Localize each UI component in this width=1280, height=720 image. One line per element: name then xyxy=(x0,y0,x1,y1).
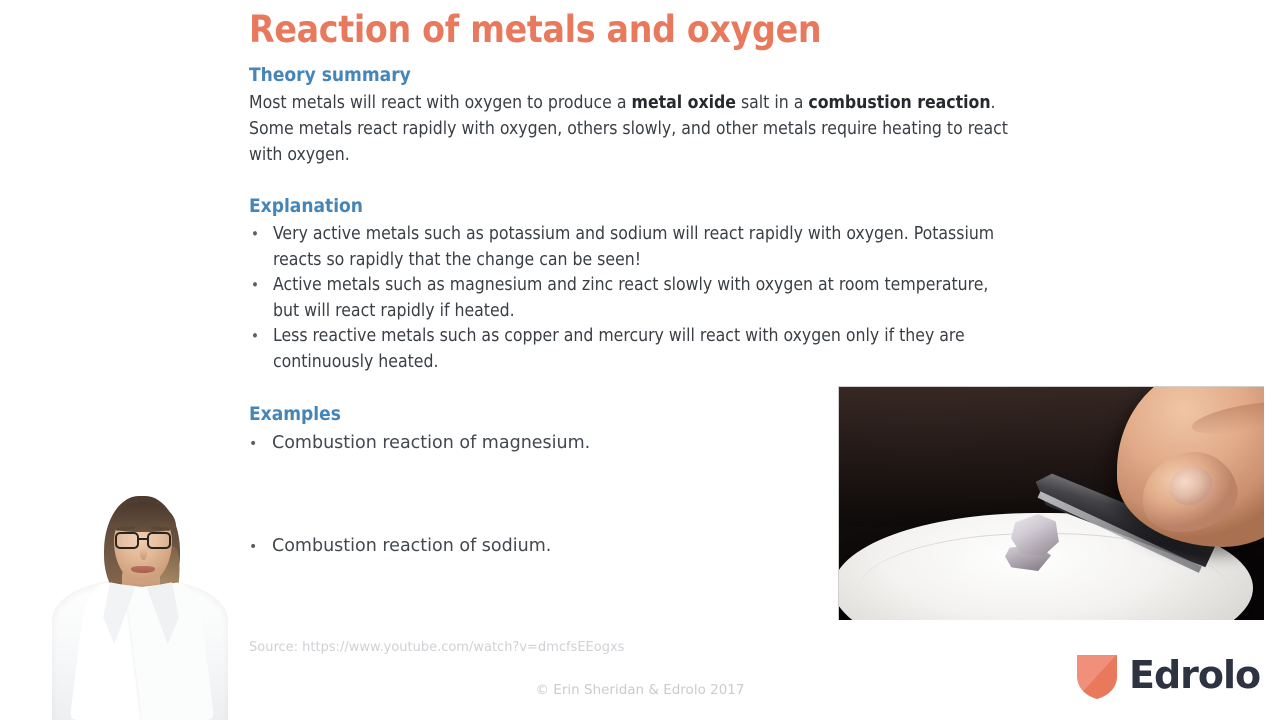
bullet-marker-icon: • xyxy=(249,433,272,455)
theory-summary-paragraph: Most metals will react with oxygen to pr… xyxy=(249,90,1009,168)
bullet-marker-icon: • xyxy=(249,536,272,558)
nose xyxy=(140,548,147,560)
example-bullet-magnesium-label: Combustion reaction of magnesium. xyxy=(272,433,590,453)
list-item-label: Less reactive metals such as copper and … xyxy=(273,326,965,372)
page-title: Reaction of metals and oxygen xyxy=(249,8,821,51)
list-item-label: Very active metals such as potassium and… xyxy=(273,224,994,270)
list-item: •Very active metals such as potassium an… xyxy=(249,222,1019,273)
shield-icon xyxy=(1075,652,1119,700)
section-heading-explanation: Explanation xyxy=(249,195,363,217)
list-item: •Less reactive metals such as copper and… xyxy=(249,324,1019,375)
source-url: Source: https://www.youtube.com/watch?v=… xyxy=(249,640,624,655)
bullet-marker-icon: • xyxy=(251,273,259,299)
example-bullet-sodium: •Combustion reaction of sodium. xyxy=(249,535,551,558)
list-item-label: Active metals such as magnesium and zinc… xyxy=(273,275,988,321)
emphasis-term: combustion reaction xyxy=(808,93,990,113)
glasses-icon xyxy=(114,532,172,549)
section-heading-theory-summary: Theory summary xyxy=(249,64,411,86)
embedded-video-sodium[interactable] xyxy=(838,386,1264,620)
presenter-video-overlay[interactable] xyxy=(48,488,228,720)
example-bullet-sodium-label: Combustion reaction of sodium. xyxy=(272,536,551,556)
glasses-lens-right xyxy=(147,532,171,549)
edrolo-logo: Edrolo xyxy=(1075,652,1265,702)
section-heading-examples: Examples xyxy=(249,403,341,425)
bullet-marker-icon: • xyxy=(251,222,259,248)
slide-canvas: Reaction of metals and oxygen Theory sum… xyxy=(0,0,1280,720)
explanation-bullet-list: •Very active metals such as potassium an… xyxy=(249,222,1019,375)
mouth xyxy=(131,566,155,573)
paragraph-text: salt in a xyxy=(736,93,808,113)
edrolo-wordmark: Edrolo xyxy=(1129,654,1260,696)
glasses-lens-left xyxy=(115,532,139,549)
list-item: •Active metals such as magnesium and zin… xyxy=(249,273,1019,324)
example-bullet-magnesium: •Combustion reaction of magnesium. xyxy=(249,432,590,455)
emphasis-term: metal oxide xyxy=(632,93,736,113)
paragraph-text: Most metals will react with oxygen to pr… xyxy=(249,93,632,113)
bullet-marker-icon: • xyxy=(251,324,259,350)
